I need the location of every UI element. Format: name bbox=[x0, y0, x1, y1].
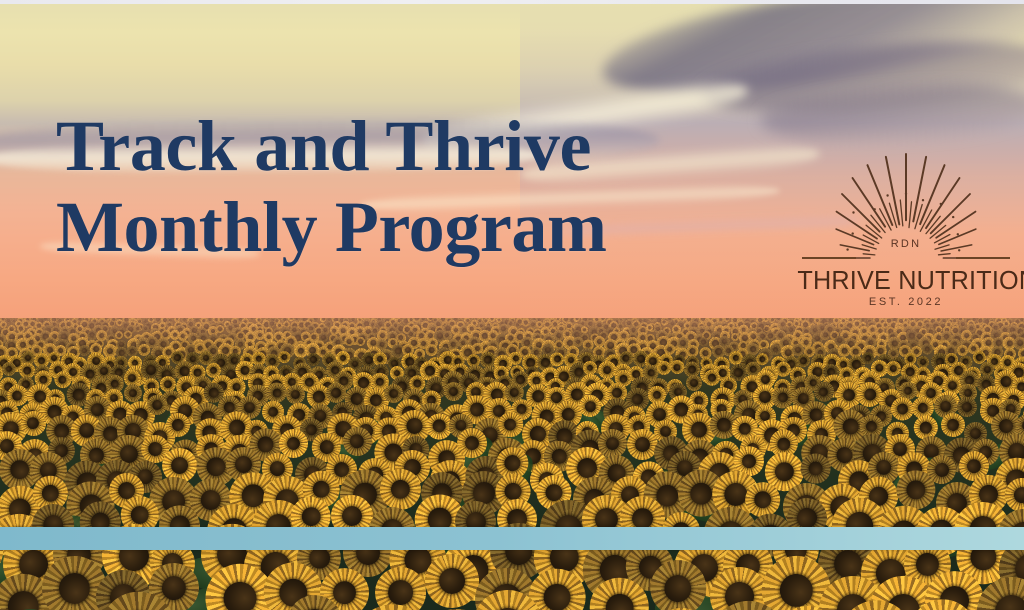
sunflower-rows bbox=[0, 318, 1024, 610]
sunflower bbox=[764, 596, 849, 610]
promo-banner: Track and Thrive Monthly Program RDN THR… bbox=[0, 0, 1024, 610]
sunburst-dot bbox=[952, 216, 954, 218]
brand-logo: RDN THRIVE NUTRITION EST. 2022 bbox=[794, 152, 1018, 312]
sunburst-ray bbox=[936, 212, 975, 238]
page-title: Track and Thrive Monthly Program bbox=[56, 106, 607, 268]
sunburst-tick bbox=[939, 254, 951, 255]
sunburst-dot bbox=[852, 232, 854, 234]
sunburst-ray bbox=[920, 165, 944, 224]
logo-initials: RDN bbox=[794, 238, 1018, 250]
logo-established: EST. 2022 bbox=[794, 296, 1018, 308]
page-title-line-2: Monthly Program bbox=[56, 187, 607, 268]
sunburst-dot bbox=[886, 194, 888, 196]
sunburst-dot bbox=[874, 208, 876, 210]
sunflower-field bbox=[0, 318, 1024, 610]
sunburst-ray bbox=[853, 178, 886, 227]
sunburst-tick bbox=[863, 254, 875, 255]
sunburst-tick bbox=[909, 202, 912, 228]
page-title-line-1: Track and Thrive bbox=[56, 106, 607, 187]
accent-bar bbox=[0, 527, 1024, 550]
sunflower-row bbox=[0, 598, 1011, 610]
sunflower bbox=[646, 602, 716, 610]
sunburst-dot bbox=[922, 199, 924, 201]
sunburst-ray bbox=[842, 194, 880, 232]
logo-brand-name: THRIVE NUTRITION bbox=[797, 265, 1014, 296]
sunburst-dot bbox=[852, 211, 854, 213]
sunburst-dot bbox=[905, 193, 907, 195]
sunburst-dot bbox=[957, 233, 959, 235]
sunburst-dot bbox=[940, 203, 942, 205]
sunburst-tick bbox=[900, 200, 903, 226]
top-edge-strip bbox=[0, 0, 1024, 4]
